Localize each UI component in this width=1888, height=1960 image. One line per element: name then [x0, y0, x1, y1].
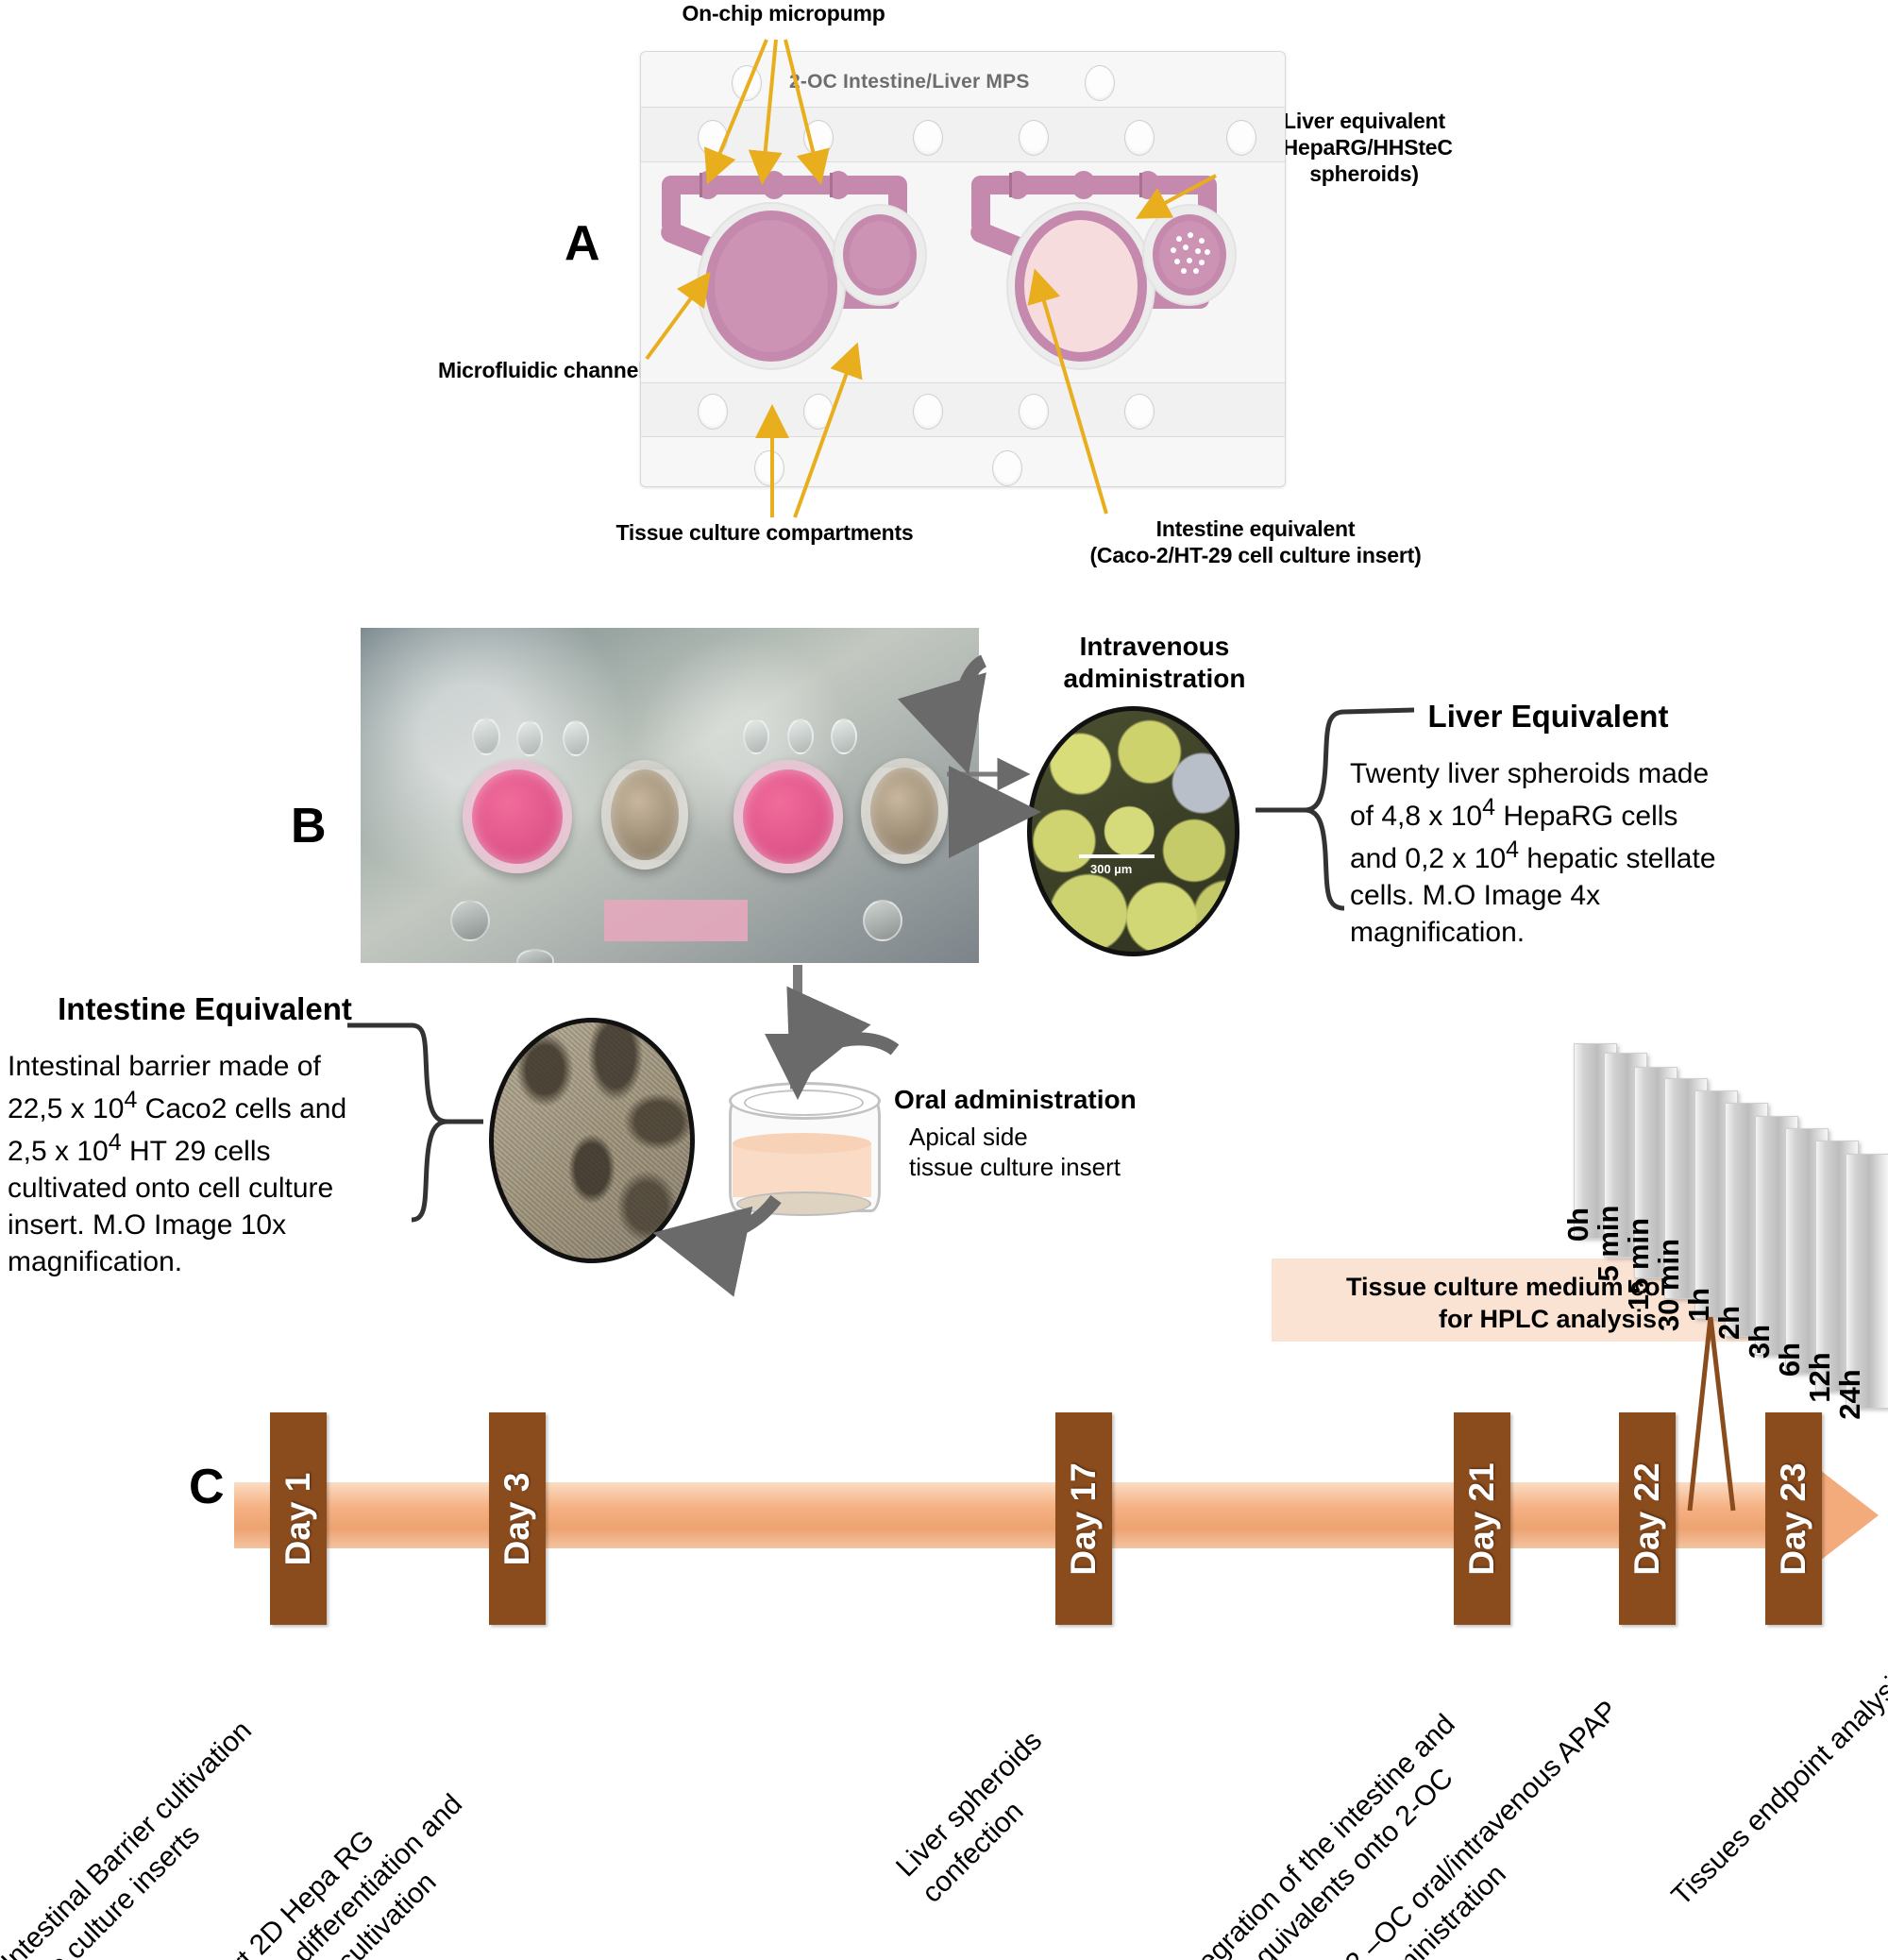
tissue-culture-insert-illustration [729, 1088, 880, 1220]
chip-hole [913, 394, 943, 430]
day-tab-day-21: Day 21 [1454, 1412, 1510, 1625]
timepoint-label: 1h [1682, 1288, 1716, 1322]
intestine-eq-line1: Intestinal barrier made of [8, 1048, 402, 1085]
chip-hole [754, 450, 784, 486]
scale-bar-label: 300 µm [1090, 862, 1132, 876]
oral-administration-line1: Apical side [909, 1122, 1177, 1153]
intestine-equivalent-brace [412, 1025, 447, 1220]
chip-hole [698, 394, 728, 430]
day-tab-day-1: Day 1 [270, 1412, 327, 1625]
liver-eq-line2: of 4,8 x 104 HepaRG cells [1350, 792, 1746, 835]
chip-hole [913, 120, 943, 156]
photo-port [743, 718, 769, 754]
timepoint-label: 3h [1743, 1325, 1777, 1359]
micropump-valve [1139, 173, 1142, 197]
micropump-node [1071, 171, 1096, 199]
timepoint-label: 0h [1561, 1208, 1595, 1242]
spheroid-dot [1171, 247, 1176, 253]
timeline-arrow-body [234, 1482, 1822, 1548]
micropump-valve [1009, 173, 1012, 197]
day-label: Day 1 [278, 1472, 318, 1565]
intestine-eq-line6: magnification. [8, 1243, 402, 1280]
label-intestine-equivalent-a-l2: (Caco-2/HT-29 cell culture insert) [1057, 542, 1454, 568]
spheroid-dot [1174, 259, 1180, 264]
day-caption-day-1-l1: Intestinal Barrier cultivation [0, 1713, 260, 1960]
day-label: Day 21 [1462, 1462, 1502, 1575]
chip-hole [992, 450, 1022, 486]
photo-sample-label [604, 900, 748, 941]
micropump-valve [830, 173, 833, 197]
liver-equivalent-body: Twenty liver spheroids made of 4,8 x 104… [1350, 755, 1746, 951]
label-oral-administration: Oral administration Apical side tissue c… [894, 1084, 1177, 1183]
panel-a-letter: A [565, 215, 600, 272]
intestine-eq-line2: 22,5 x 104 Caco2 cells and [8, 1085, 402, 1127]
chip-band-lower [641, 382, 1285, 437]
mps-chip-illustration: 2-OC Intestine/Liver MPS [640, 51, 1286, 487]
liver-eq-line3-sup: 4 [1506, 836, 1519, 863]
liver-eq-line1: Twenty liver spheroids made [1350, 755, 1746, 792]
spheroid-dot [1183, 245, 1188, 250]
timepoint-label: 2h [1712, 1306, 1746, 1340]
liver-eq-line4: cells. M.O Image 4x [1350, 877, 1746, 914]
insert-membrane [736, 1191, 871, 1216]
timeline-arrow-head [1820, 1470, 1879, 1561]
liver-eq-line2-post: HepaRG cells [1495, 801, 1677, 832]
micropump-node [762, 171, 786, 199]
chip-hole [1124, 120, 1155, 156]
liver-equivalent-brace [1305, 712, 1344, 908]
oral-administration-title: Oral administration [894, 1084, 1177, 1116]
day-caption-day-17: Liver spheroids confection [888, 1723, 1076, 1911]
intestine-eq-line2-pre: 22,5 x 10 [8, 1093, 124, 1124]
scale-bar [1079, 854, 1155, 858]
timepoint-label: 24h [1833, 1369, 1867, 1419]
timepoint-label: 6h [1773, 1343, 1807, 1377]
timepoint-tab-24h: 24h [1846, 1154, 1888, 1409]
label-on-chip-micropump: On-chip micropump [623, 0, 944, 26]
chip-hole [1124, 394, 1155, 430]
day-caption-day-23: Tissues endpoint analysis [1663, 1659, 1888, 1914]
chip-hole [1019, 120, 1049, 156]
photo-well-medium-right [733, 760, 843, 873]
day-label: Day 22 [1627, 1462, 1667, 1575]
liver-eq-line3-post: hepatic stellate [1519, 843, 1715, 874]
spheroid-dot [1188, 232, 1193, 238]
day-tab-day-22: Day 22 [1619, 1412, 1676, 1625]
photo-bolt-hole [450, 900, 490, 941]
spheroid-dot [1181, 268, 1187, 274]
liver-equivalent-textblock: Liver Equivalent Twenty liver spheroids … [1350, 699, 1746, 951]
intestine-eq-line3-pre: 2,5 x 10 [8, 1136, 109, 1167]
timepoint-label: 30 min [1652, 1239, 1686, 1331]
label-intestine-equivalent-a: Intestine equivalent (Caco-2/HT-29 cell … [1057, 515, 1454, 568]
tissue-culture-compartment-small [843, 214, 917, 296]
chip-hole [1226, 120, 1256, 156]
label-intestine-equivalent-a-l1: Intestine equivalent [1057, 515, 1454, 542]
chip-hole [803, 394, 834, 430]
photo-well-insert-right [861, 758, 948, 864]
liver-eq-line3-pre: and 0,2 x 10 [1350, 843, 1506, 874]
day-caption-day-23-l1: Tissues endpoint analysis [1663, 1659, 1888, 1914]
intestine-equivalent-body: Intestinal barrier made of 22,5 x 104 Ca… [8, 1048, 402, 1280]
intestine-eq-line3-sup: 4 [109, 1129, 122, 1156]
chip-title: 2-OC Intestine/Liver MPS [789, 71, 1030, 93]
photo-well-medium-left [463, 760, 572, 873]
spheroid-dot [1205, 249, 1210, 255]
timepoint-label: 5 min [1592, 1206, 1626, 1282]
day-label: Day 23 [1774, 1462, 1813, 1575]
label-intravenous-administration: Intravenous administration [1037, 631, 1273, 694]
liver-equivalent-title: Liver Equivalent [1350, 699, 1746, 735]
chip-hole [803, 120, 834, 156]
intestine-eq-line2-post: Caco2 cells and [137, 1093, 346, 1124]
liver-eq-line2-pre: of 4,8 x 10 [1350, 801, 1482, 832]
intestinal-barrier-micrograph [489, 1018, 695, 1263]
intestine-eq-line3-post: HT 29 cells [122, 1136, 271, 1167]
chip-photograph [361, 628, 979, 963]
day-label: Day 3 [497, 1472, 537, 1565]
photo-port [787, 718, 814, 754]
intestine-eq-line4: cultivated onto cell culture [8, 1170, 402, 1207]
photo-bolt-hole [516, 949, 554, 963]
photo-port [516, 720, 543, 756]
spheroid-dot [1187, 258, 1192, 263]
photo-port [831, 718, 857, 754]
intestine-eq-line2-sup: 4 [124, 1087, 137, 1113]
chip-hole [732, 65, 762, 101]
photo-port [563, 720, 589, 756]
liver-spheroids-micrograph: 300 µm [1027, 706, 1239, 956]
intestine-eq-line5: insert. M.O Image 10x [8, 1207, 402, 1243]
photo-port [472, 718, 500, 755]
chip-hole [698, 120, 728, 156]
intestine-equivalent-title: Intestine Equivalent [8, 991, 402, 1027]
timepoint-label: 12h [1803, 1352, 1837, 1402]
micropump-valve [700, 173, 702, 197]
day-tab-day-23: Day 23 [1765, 1412, 1822, 1625]
spheroid-dot [1199, 260, 1205, 265]
liver-eq-line3: and 0,2 x 104 hepatic stellate [1350, 835, 1746, 877]
oral-curved-arrow-top [799, 1039, 895, 1072]
liver-eq-line2-sup: 4 [1482, 794, 1495, 820]
spheroid-dot [1193, 268, 1199, 274]
chip-band-top [641, 107, 1285, 163]
label-microfluidic-channels: Microfluidic channels [392, 357, 656, 383]
panel-b-letter: B [291, 798, 327, 854]
insert-medium-surface [733, 1133, 871, 1154]
day-tab-day-3: Day 3 [489, 1412, 546, 1625]
intestine-equivalent-compartment [1015, 211, 1147, 362]
day-label: Day 17 [1064, 1462, 1104, 1575]
tissue-culture-compartment-large [705, 211, 837, 362]
spheroid-dot [1199, 238, 1205, 244]
panel-c-letter: C [189, 1459, 225, 1515]
intestine-eq-line3: 2,5 x 104 HT 29 cells [8, 1127, 402, 1170]
intestine-equivalent-textblock: Intestine Equivalent Intestinal barrier … [8, 991, 402, 1280]
figure-root: A On-chip micropump Liver equivalent (He… [0, 0, 1888, 1960]
day-caption-day-1: Intestinal Barrier cultivation into cult… [0, 1713, 286, 1960]
photo-well-insert-left [601, 760, 688, 870]
day-tab-day-17: Day 17 [1055, 1412, 1112, 1625]
chip-hole [1019, 394, 1049, 430]
liver-equivalent-compartment [1153, 214, 1226, 296]
insert-rim-inner [744, 1090, 864, 1116]
photo-bolt-hole [863, 900, 902, 941]
intravenous-line1: Intravenous [1037, 631, 1273, 663]
intravenous-line2: administration [1037, 663, 1273, 695]
spheroid-dot [1176, 236, 1182, 242]
spheroid-dot [1195, 248, 1201, 254]
chip-hole [1085, 65, 1115, 101]
timepoint-label: 15 min [1622, 1218, 1656, 1310]
liver-eq-line5: magnification. [1350, 914, 1746, 951]
oral-administration-line2: tissue culture insert [909, 1152, 1177, 1183]
label-tissue-culture-compartments: Tissue culture compartments [604, 519, 925, 546]
